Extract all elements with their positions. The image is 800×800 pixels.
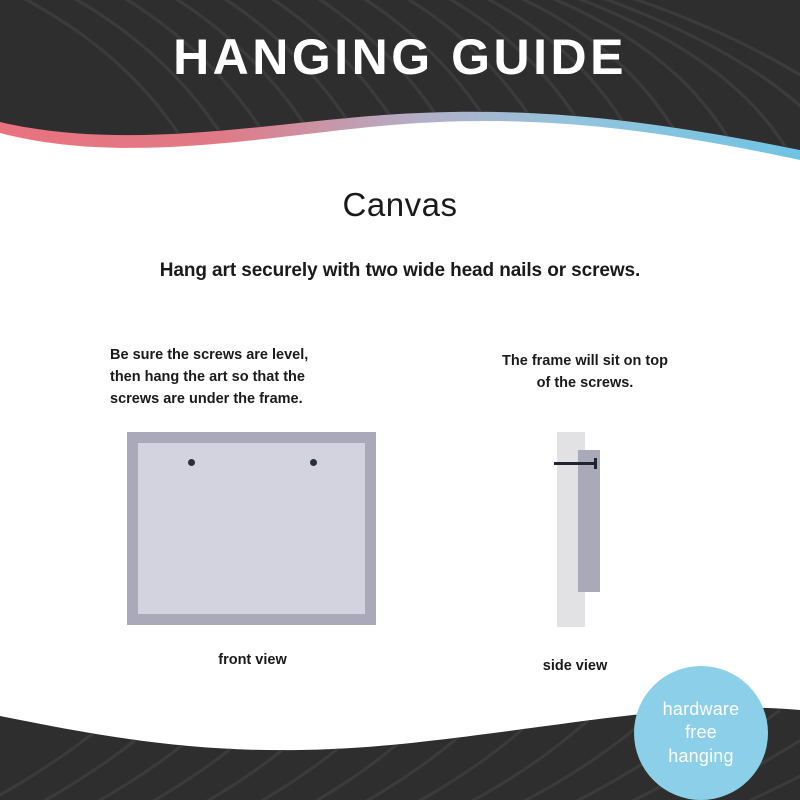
side-view-label: side view bbox=[500, 658, 650, 674]
screw-head-icon bbox=[594, 458, 597, 469]
hardware-free-hanging-badge: hardware free hanging bbox=[634, 666, 768, 800]
caption-line: then hang the art so that the bbox=[110, 366, 410, 388]
hanging-guide-page: HANGING GUIDE Canvas Hang art securely w… bbox=[0, 0, 800, 800]
caption-line: Be sure the screws are level, bbox=[110, 344, 410, 366]
side-view-diagram bbox=[545, 432, 665, 632]
badge-line: free bbox=[685, 721, 717, 744]
frame-edge-strip bbox=[578, 450, 600, 592]
badge-line: hardware bbox=[663, 698, 740, 721]
screw-shaft-icon bbox=[554, 462, 596, 465]
side-view-caption: The frame will sit on top of the screws. bbox=[440, 350, 730, 394]
badge-line: hanging bbox=[668, 745, 733, 768]
screw-dot-left-icon bbox=[188, 459, 195, 466]
product-title: Canvas bbox=[0, 186, 800, 224]
header-band: HANGING GUIDE bbox=[0, 0, 800, 170]
screw-dot-right-icon bbox=[310, 459, 317, 466]
page-title: HANGING GUIDE bbox=[0, 28, 800, 86]
caption-line: screws are under the frame. bbox=[110, 388, 410, 410]
lead-instruction-text: Hang art securely with two wide head nai… bbox=[0, 260, 800, 282]
caption-line: of the screws. bbox=[440, 372, 730, 394]
caption-line: The frame will sit on top bbox=[440, 350, 730, 372]
front-view-label: front view bbox=[130, 652, 375, 668]
front-view-diagram bbox=[127, 432, 376, 625]
canvas-surface bbox=[138, 443, 365, 614]
front-view-caption-block: Be sure the screws are level, then hang … bbox=[110, 344, 410, 410]
front-view-caption: Be sure the screws are level, then hang … bbox=[110, 344, 410, 410]
side-view-caption-block: The frame will sit on top of the screws. bbox=[440, 350, 730, 394]
